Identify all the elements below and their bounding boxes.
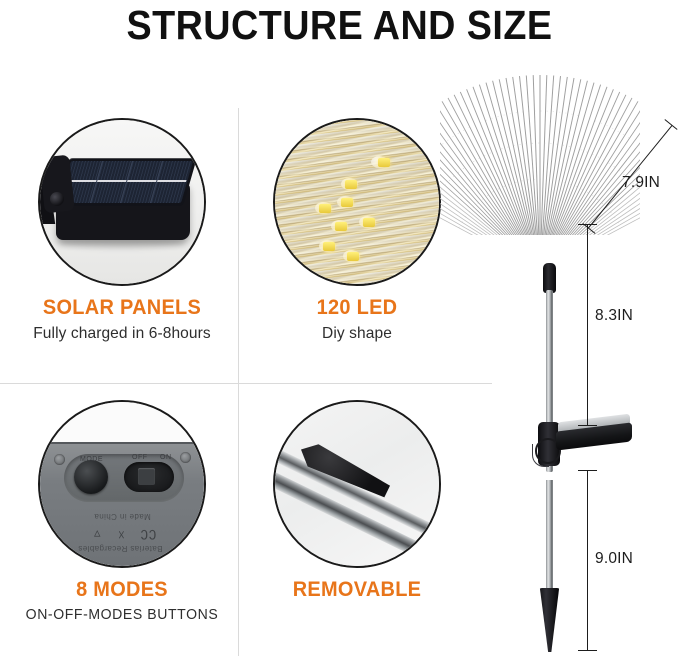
made-in-text: Made in China	[94, 512, 151, 521]
control-buttons-photo: MODE OFF ON Made in China ▿ ☓ ∁∁ Bateria…	[38, 400, 206, 568]
mount-wire-loop	[532, 444, 549, 467]
led-chip	[341, 198, 353, 207]
feature-title: 8 MODES	[9, 578, 235, 602]
power-switch-handle[interactable]	[138, 468, 155, 485]
feature-title: SOLAR PANELS	[9, 296, 235, 320]
led-chip	[378, 158, 390, 167]
mode-button[interactable]	[74, 460, 108, 494]
dimension-label-stem-lower: 9.0IN	[595, 550, 633, 568]
led-chip	[319, 204, 331, 213]
ground-spike	[538, 588, 561, 652]
led-wire-scene	[275, 120, 439, 284]
on-label: ON	[160, 454, 172, 461]
dimension-cap-top	[578, 224, 597, 225]
product-illustration	[420, 40, 679, 664]
dimension-label-fan-width: 7.9IN	[622, 174, 660, 192]
ce-mark-icon: ∁∁	[140, 526, 157, 542]
divider-horizontal	[0, 383, 492, 384]
led-chip	[363, 218, 375, 227]
battery-text: Baterias Recargables	[78, 544, 162, 553]
feature-solar-panels: SOLAR PANELS Fully charged in 6-8hours	[3, 118, 241, 343]
panel-face	[55, 158, 197, 206]
stem-rod-lower	[546, 480, 553, 595]
warning-icon: ▿	[94, 526, 101, 542]
dimension-cap-top	[578, 470, 597, 471]
feature-subtitle: ON-OFF-MODES BUTTONS	[7, 607, 238, 623]
solar-panel-unit	[556, 413, 632, 452]
dimension-cap-bottom	[578, 425, 597, 426]
dimension-line-stem-upper	[587, 224, 588, 425]
stake-scene	[275, 402, 439, 566]
led-chip	[345, 180, 357, 189]
control-panel-scene: MODE OFF ON Made in China ▿ ☓ ∁∁ Bateria…	[40, 402, 204, 566]
feature-subtitle: Fully charged in 6-8hours	[7, 325, 238, 343]
fan-base-collar	[543, 263, 556, 293]
infographic-page: STRUCTURE AND SIZE	[0, 0, 679, 664]
led-chip	[335, 222, 347, 231]
dimension-label-stem-upper: 8.3IN	[595, 307, 633, 325]
screw-left	[54, 454, 65, 465]
modes-image-wrap: MODE OFF ON Made in China ▿ ☓ ∁∁ Bateria…	[38, 400, 206, 568]
solar-panel-image-wrap	[38, 118, 206, 286]
removable-stake-photo	[273, 400, 441, 568]
off-label: OFF	[132, 454, 148, 461]
led-chip	[323, 242, 335, 251]
screw-right	[180, 452, 191, 463]
panel-adjust-knob	[50, 192, 64, 206]
solar-panel-photo	[38, 118, 206, 286]
dimension-line-stem-lower	[587, 470, 588, 650]
fan-head	[440, 35, 640, 235]
dimension-cap-bottom	[578, 650, 597, 651]
led-image-wrap	[273, 118, 441, 286]
feature-modes: MODE OFF ON Made in China ▿ ☓ ∁∁ Bateria…	[3, 400, 241, 623]
removable-image-wrap	[273, 400, 441, 568]
led-copper-wire-photo	[273, 118, 441, 286]
weee-bin-icon: ☓	[118, 526, 125, 542]
solar-panel-scene	[40, 120, 204, 284]
led-chip	[347, 252, 359, 261]
